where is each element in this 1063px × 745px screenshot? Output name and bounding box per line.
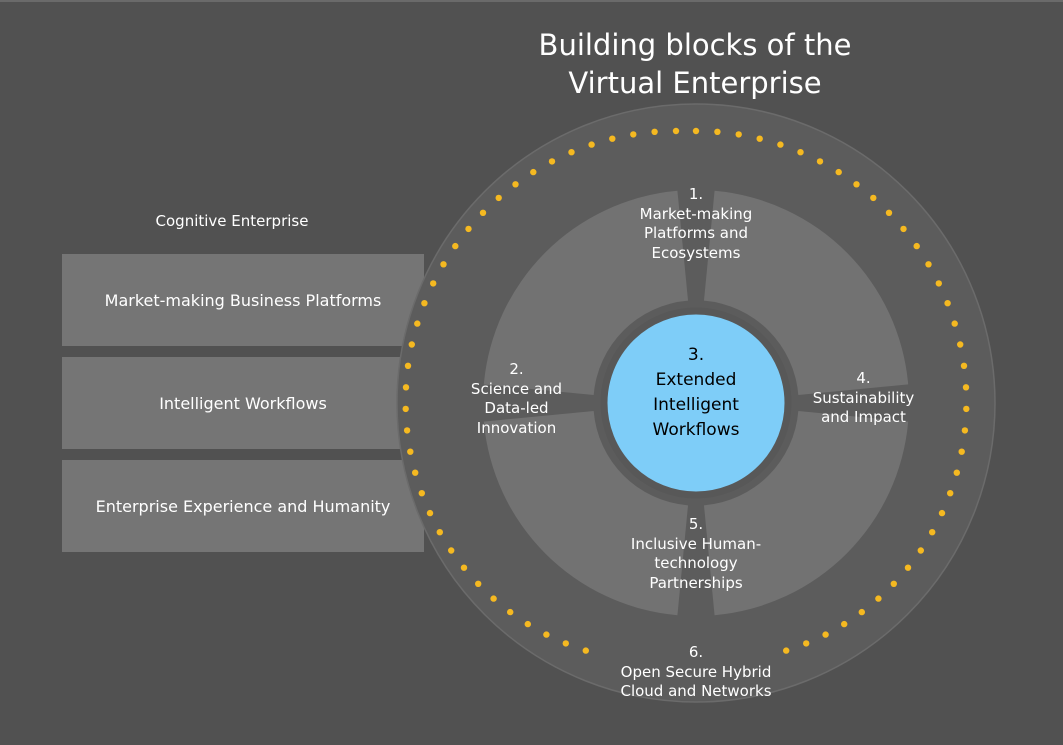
virtual-enterprise-wheel: 1. Market-making Platforms and Ecosystem… <box>396 103 996 703</box>
title-line-1: Building blocks of the <box>539 28 852 62</box>
page-title: Building blocks of the Virtual Enterpris… <box>430 26 960 102</box>
legend-bar-label: Market-making Business Platforms <box>105 291 382 310</box>
wheel-svg <box>396 103 996 703</box>
left-legend-panel: Cognitive Enterprise Market-making Busin… <box>0 0 430 745</box>
legend-bar-market-making[interactable]: Market-making Business Platforms <box>62 254 424 346</box>
legend-bar-intelligent-workflows[interactable]: Intelligent Workflows <box>62 357 424 449</box>
title-line-2: Virtual Enterprise <box>430 64 960 102</box>
cognitive-enterprise-header: Cognitive Enterprise <box>62 212 402 230</box>
legend-bar-label: Enterprise Experience and Humanity <box>96 497 391 516</box>
legend-bar-label: Intelligent Workflows <box>159 394 327 413</box>
diagram-canvas: Building blocks of the Virtual Enterpris… <box>0 0 1063 745</box>
legend-bar-enterprise-experience[interactable]: Enterprise Experience and Humanity <box>62 460 424 552</box>
center-circle[interactable] <box>604 311 788 495</box>
